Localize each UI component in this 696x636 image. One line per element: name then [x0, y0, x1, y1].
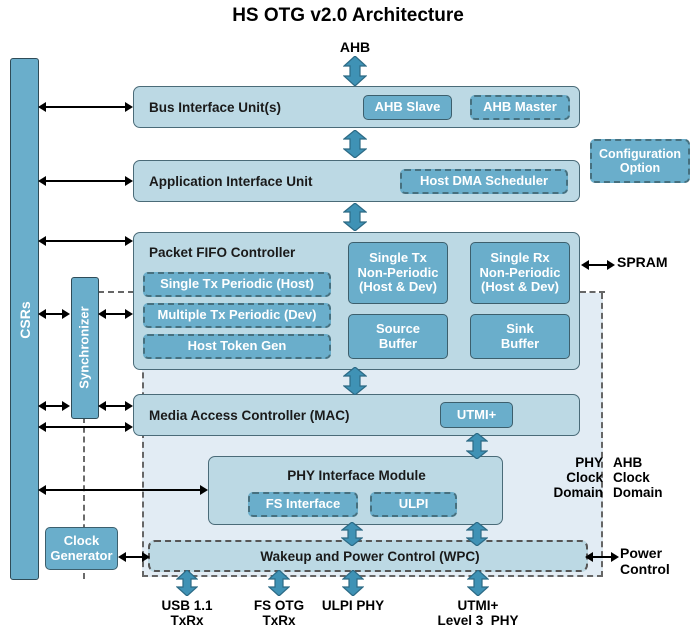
wakeup-power-control-label: Wakeup and Power Control (WPC) — [150, 549, 590, 564]
sync-mac-head-left — [98, 401, 106, 411]
csr-mac-head-left — [38, 422, 46, 432]
csr-phy-head-left — [38, 485, 46, 495]
wpc-power-head-right — [611, 552, 619, 562]
port-label-fsotg: FS OTG TxRx — [239, 598, 319, 628]
host-token-gen-label: Host Token Gen — [188, 339, 287, 354]
csr-aiu-head-left — [38, 176, 46, 186]
fs-interface-label: FS Interface — [266, 497, 340, 512]
csr-aiu-head-right — [125, 176, 133, 186]
csr-sync-head-left-upper — [38, 309, 46, 319]
csr-fifo-head-left — [38, 236, 46, 246]
csr-biu-head-right — [125, 102, 133, 112]
ahb-top-label: AHB — [325, 40, 385, 56]
port-label-utmiphy: UTMI+ Level 3 PHY — [418, 598, 538, 628]
wpc-power-head-left — [585, 552, 593, 562]
utmi-plus-label: UTMI+ — [457, 408, 496, 423]
sync-mac-head-right — [125, 401, 133, 411]
phy-clock-domain-label: PHY Clock Domain — [549, 455, 603, 500]
utmi-plus-block[interactable]: UTMI+ — [440, 402, 513, 428]
ahb-bus-arrow — [343, 56, 367, 86]
host-token-gen-block[interactable]: Host Token Gen — [143, 334, 331, 359]
single-tx-periodic-host-block[interactable]: Single Tx Periodic (Host) — [143, 272, 331, 297]
synchronizer-label: Synchronizer — [77, 293, 92, 403]
csr-sync-head-right-upper — [62, 309, 70, 319]
ulpi-label: ULPI — [399, 497, 429, 512]
spram-label: SPRAM — [617, 255, 687, 271]
sync-fifo-head-left — [98, 309, 106, 319]
phy-interface-module-label: PHY Interface Module — [209, 468, 504, 483]
phy-wpc-arrow-left — [341, 522, 363, 546]
power-control-label: Power Control — [620, 546, 692, 577]
page-title: HS OTG v2.0 Architecture — [0, 5, 696, 26]
clockgen-wpc-head-left — [118, 552, 126, 562]
sink-buffer-label: Sink Buffer — [501, 322, 539, 351]
sync-fifo-head-right — [125, 309, 133, 319]
port-label-ulpiphy: ULPI PHY — [313, 598, 393, 613]
csr-aiu-line — [46, 180, 126, 182]
port-arrow-fsotg — [268, 570, 290, 596]
ahb-slave-block[interactable]: AHB Slave — [363, 95, 452, 120]
source-buffer-label: Source Buffer — [376, 322, 420, 351]
csr-fifo-line — [46, 240, 126, 242]
source-buffer-block[interactable]: Source Buffer — [348, 314, 448, 359]
fifo-spram-head-left — [581, 260, 589, 270]
single-rx-non-periodic-block[interactable]: Single Rx Non-Periodic (Host & Dev) — [470, 242, 570, 304]
configuration-option-legend: Configuration Option — [590, 139, 690, 183]
clockgen-wpc-line — [124, 556, 144, 558]
phy-wpc-arrow-right — [466, 522, 488, 546]
port-arrow-utmiphy — [467, 570, 489, 596]
csr-phy-head-right — [200, 485, 208, 495]
clock-generator-block[interactable]: Clock Generator — [45, 527, 118, 570]
media-access-controller-label: Media Access Controller (MAC) — [149, 408, 350, 423]
sync-mac-line — [104, 405, 126, 407]
packet-fifo-controller-label: Packet FIFO Controller — [149, 245, 295, 260]
csr-mac-line — [46, 426, 126, 428]
csr-phy-line — [46, 489, 201, 491]
csr-sync-head-right-lower — [62, 401, 70, 411]
ahb-master-label: AHB Master — [483, 100, 557, 115]
csr-fifo-head-right — [125, 236, 133, 246]
csr-mac-head-right — [125, 422, 133, 432]
csr-biu-line — [46, 106, 126, 108]
bus-interface-unit-label: Bus Interface Unit(s) — [149, 100, 281, 115]
single-tx-non-periodic-label: Single Tx Non-Periodic (Host & Dev) — [358, 251, 439, 295]
host-dma-scheduler-block[interactable]: Host DMA Scheduler — [400, 169, 568, 194]
clockgen-wpc-head-right — [142, 552, 150, 562]
multiple-tx-periodic-dev-label: Multiple Tx Periodic (Dev) — [158, 308, 317, 323]
port-arrow-ulpiphy — [342, 570, 364, 596]
sink-buffer-block[interactable]: Sink Buffer — [470, 314, 570, 359]
ahb-master-block[interactable]: AHB Master — [470, 95, 570, 120]
ahb-slave-label: AHB Slave — [375, 100, 441, 115]
application-interface-unit-label: Application Interface Unit — [149, 174, 313, 189]
single-tx-periodic-host-label: Single Tx Periodic (Host) — [160, 277, 314, 292]
mac-phy-arrow — [466, 433, 488, 459]
sync-fifo-line — [104, 313, 126, 315]
phy-domain-top-edge-right — [580, 291, 605, 293]
port-label-usb11: USB 1.1 TxRx — [147, 598, 227, 628]
csrs-label: CSRs — [17, 280, 33, 360]
csr-sync-head-left-lower — [38, 401, 46, 411]
wakeup-power-control-block[interactable]: Wakeup and Power Control (WPC) — [148, 540, 588, 572]
port-arrow-usb11 — [176, 570, 198, 596]
fifo-spram-head-right — [607, 260, 615, 270]
ulpi-block[interactable]: ULPI — [370, 492, 457, 517]
host-dma-scheduler-label: Host DMA Scheduler — [420, 174, 548, 189]
architecture-diagram: HS OTG v2.0 Architecture CSRs Synchroniz… — [0, 0, 696, 636]
aiu-fifo-arrow — [343, 203, 367, 231]
csr-biu-head-left — [38, 102, 46, 112]
fifo-mac-arrow — [343, 367, 367, 395]
configuration-option-label: Configuration Option — [599, 147, 681, 175]
biu-aiu-arrow — [343, 130, 367, 158]
multiple-tx-periodic-dev-block[interactable]: Multiple Tx Periodic (Dev) — [143, 303, 331, 328]
fs-interface-block[interactable]: FS Interface — [248, 492, 358, 517]
clock-generator-label: Clock Generator — [50, 534, 112, 563]
single-tx-non-periodic-block[interactable]: Single Tx Non-Periodic (Host & Dev) — [348, 242, 448, 304]
single-rx-non-periodic-label: Single Rx Non-Periodic (Host & Dev) — [480, 251, 561, 295]
ahb-clock-domain-label: AHB Clock Domain — [613, 455, 683, 500]
